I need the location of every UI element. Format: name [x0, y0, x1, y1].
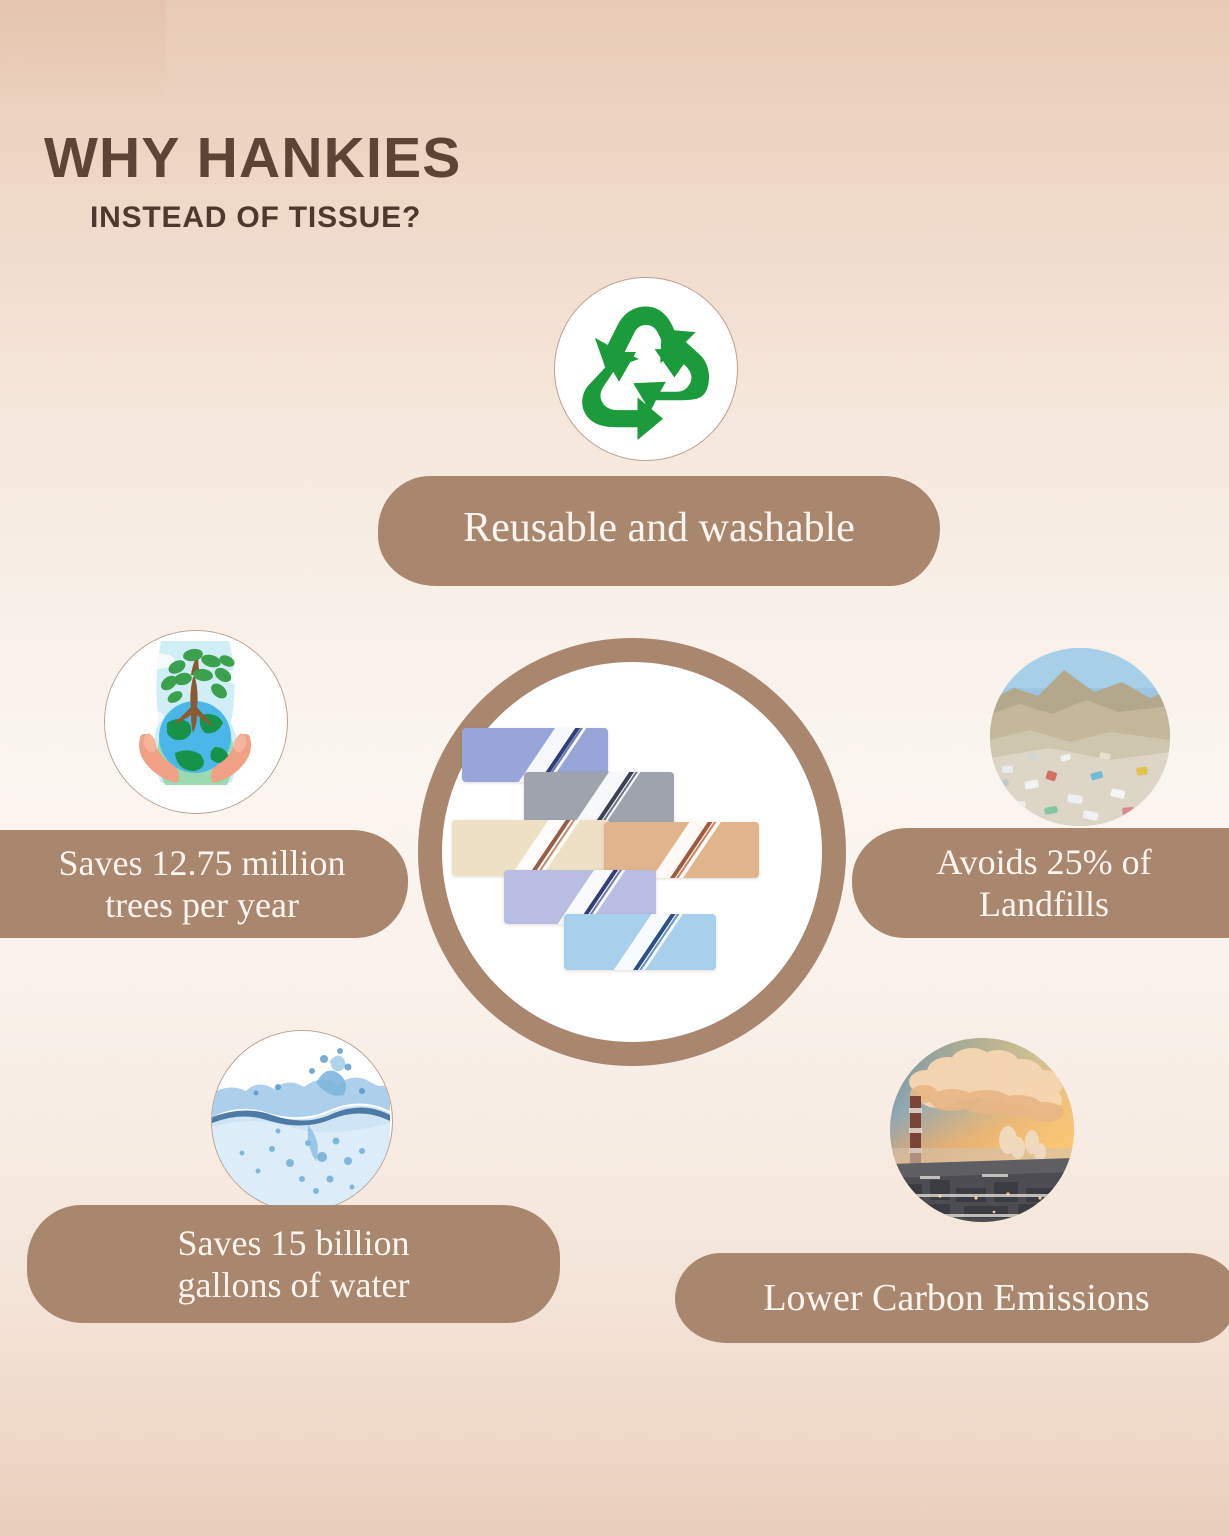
page-title: WHY HANKIES INSTEAD OF TISSUE? — [44, 128, 804, 234]
rolled-handkerchiefs-product-photo — [452, 728, 814, 1020]
recycle-icon-circle — [554, 277, 738, 461]
water-line-2: gallons of water — [178, 1265, 410, 1305]
water-splash-photo-icon — [212, 1031, 390, 1209]
benefit-pill-trees[interactable]: Saves 12.75 million trees per year — [0, 830, 408, 938]
benefit-label-reusable: Reusable and washable — [463, 504, 855, 554]
benefit-pill-landfill[interactable]: Avoids 25% of Landfills — [852, 828, 1229, 938]
tree-earth-hands-icon-circle — [104, 630, 288, 814]
benefit-label-water: Saves 15 billion gallons of water — [178, 1222, 410, 1307]
benefit-label-carbon: Lower Carbon Emissions — [763, 1276, 1149, 1321]
landfill-photo-icon-circle — [990, 648, 1170, 826]
benefit-label-trees: Saves 12.75 million trees per year — [59, 842, 346, 927]
landfill-photo-icon — [990, 648, 1170, 826]
smokestack-photo-icon-circle — [890, 1038, 1074, 1222]
smokestack-photo-icon — [890, 1038, 1074, 1222]
water-splash-photo-icon-circle — [211, 1030, 393, 1212]
trees-line-2: trees per year — [105, 885, 299, 925]
landfill-line-1: Avoids 25% of — [936, 842, 1151, 882]
hankie-cream — [452, 820, 610, 876]
benefit-pill-reusable[interactable]: Reusable and washable — [378, 476, 940, 586]
background-seam — [0, 0, 166, 110]
hankie-gray — [524, 772, 674, 824]
water-line-1: Saves 15 billion — [178, 1223, 410, 1263]
landfill-line-2: Landfills — [979, 884, 1109, 924]
trees-line-1: Saves 12.75 million — [59, 843, 346, 883]
benefit-pill-carbon[interactable]: Lower Carbon Emissions — [675, 1253, 1229, 1343]
benefit-label-landfill: Avoids 25% of Landfills — [936, 841, 1151, 926]
hankie-lightblue — [564, 914, 716, 970]
recycle-icon — [575, 298, 717, 440]
tree-earth-hands-icon — [105, 631, 285, 811]
title-text: WHY HANKIES — [44, 128, 804, 188]
benefit-pill-water[interactable]: Saves 15 billion gallons of water — [27, 1205, 560, 1323]
subtitle-text: INSTEAD OF TISSUE? — [90, 202, 804, 234]
